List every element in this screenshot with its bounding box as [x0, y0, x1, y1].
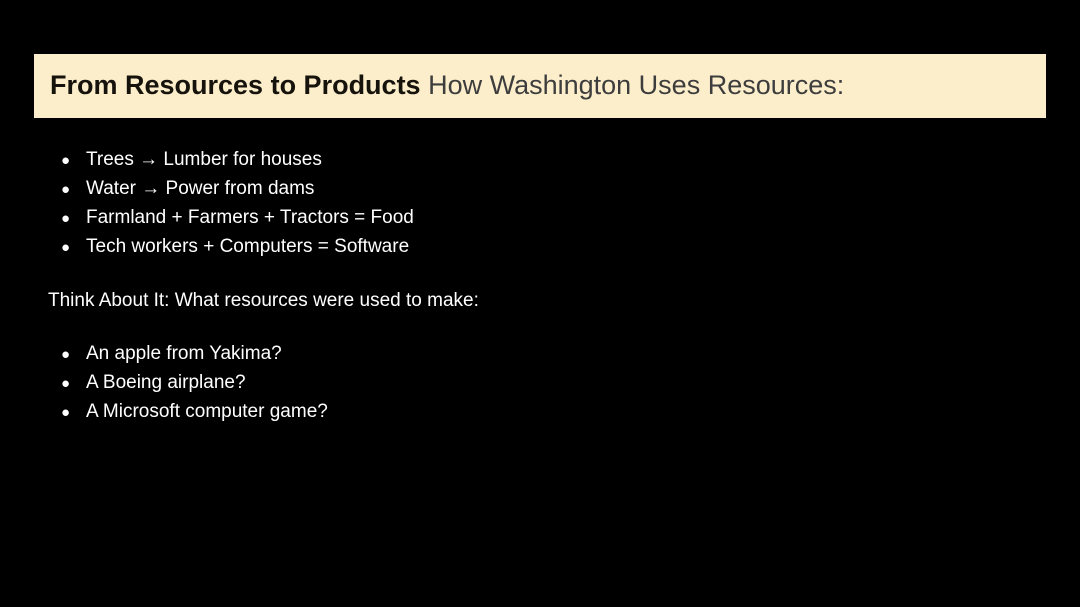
think-about-it-prompt: Think About It: What resources were used… [48, 286, 479, 315]
bullet-dot-icon: ● [48, 233, 86, 262]
bullet-dot-icon: ● [48, 398, 86, 427]
list-item: ● Tech workers + Computers = Software [48, 232, 414, 261]
list-item-label: Water → Power from dams [86, 174, 314, 203]
bullet-dot-icon: ● [48, 340, 86, 369]
list-item: ● Trees → Lumber for houses [48, 145, 414, 174]
bullet-dot-icon: ● [48, 175, 86, 204]
slide-body: ● Trees → Lumber for houses ● Water → Po… [0, 0, 1080, 607]
list-item: ● Farmland + Farmers + Tractors = Food [48, 203, 414, 232]
resource-product-list: ● Trees → Lumber for houses ● Water → Po… [48, 145, 414, 261]
list-item-label: Farmland + Farmers + Tractors = Food [86, 203, 414, 232]
list-item-label: A Boeing airplane? [86, 368, 246, 397]
list-item: ● A Boeing airplane? [48, 368, 328, 397]
list-item-label: An apple from Yakima? [86, 339, 282, 368]
bullet-dot-icon: ● [48, 369, 86, 398]
list-item: ● A Microsoft computer game? [48, 397, 328, 426]
bullet-dot-icon: ● [48, 146, 86, 175]
list-item-label: Tech workers + Computers = Software [86, 232, 409, 261]
bullet-dot-icon: ● [48, 204, 86, 233]
list-item: ● An apple from Yakima? [48, 339, 328, 368]
think-about-it-list: ● An apple from Yakima? ● A Boeing airpl… [48, 339, 328, 426]
list-item: ● Water → Power from dams [48, 174, 414, 203]
slide-canvas: From Resources to Products How Washingto… [0, 0, 1080, 607]
list-item-label: A Microsoft computer game? [86, 397, 328, 426]
list-item-label: Trees → Lumber for houses [86, 145, 322, 174]
